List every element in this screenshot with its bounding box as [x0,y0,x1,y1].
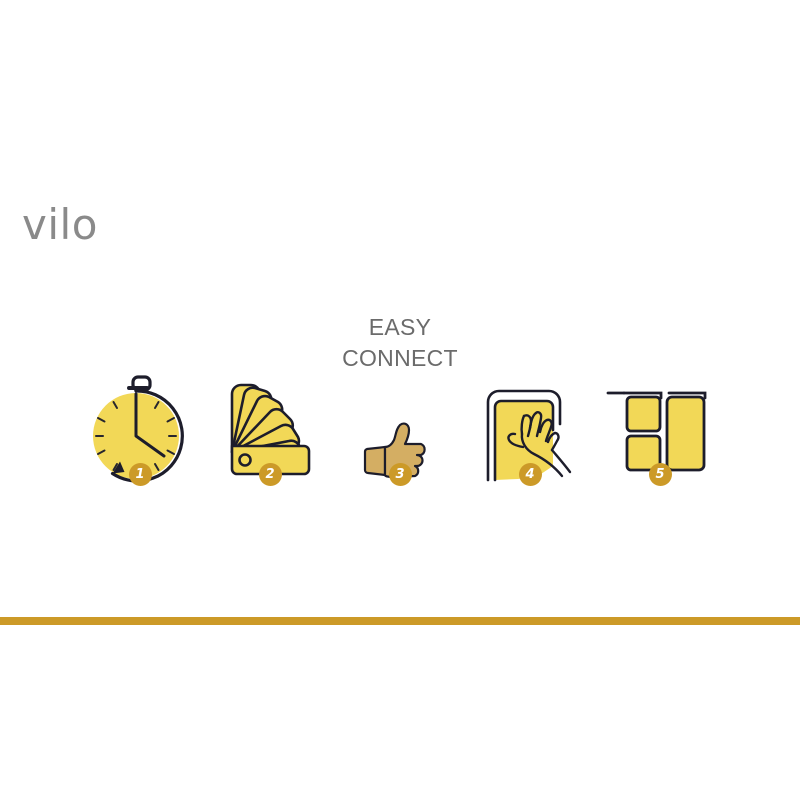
brand-logo: vilo [22,199,182,251]
brand-wordmark: vilo [22,199,182,251]
feature-item-5: 5 [600,300,720,500]
bottom-accent-rule [0,617,800,625]
feature-caption-3: EASY CONNECT [340,312,460,374]
feature-item-1: 1 [80,300,200,500]
step-badge-3: 3 [389,463,412,486]
step-badge-4: 4 [519,463,542,486]
feature-item-3: EASY CONNECT 3 [340,300,460,500]
step-badge-2: 2 [259,463,282,486]
feature-item-2: 2 [210,300,330,500]
step-badge-1: 1 [129,463,152,486]
feature-item-4: 4 [470,300,590,500]
feature-step-strip: 1 2 EA [80,300,720,500]
step-badge-5: 5 [649,463,672,486]
